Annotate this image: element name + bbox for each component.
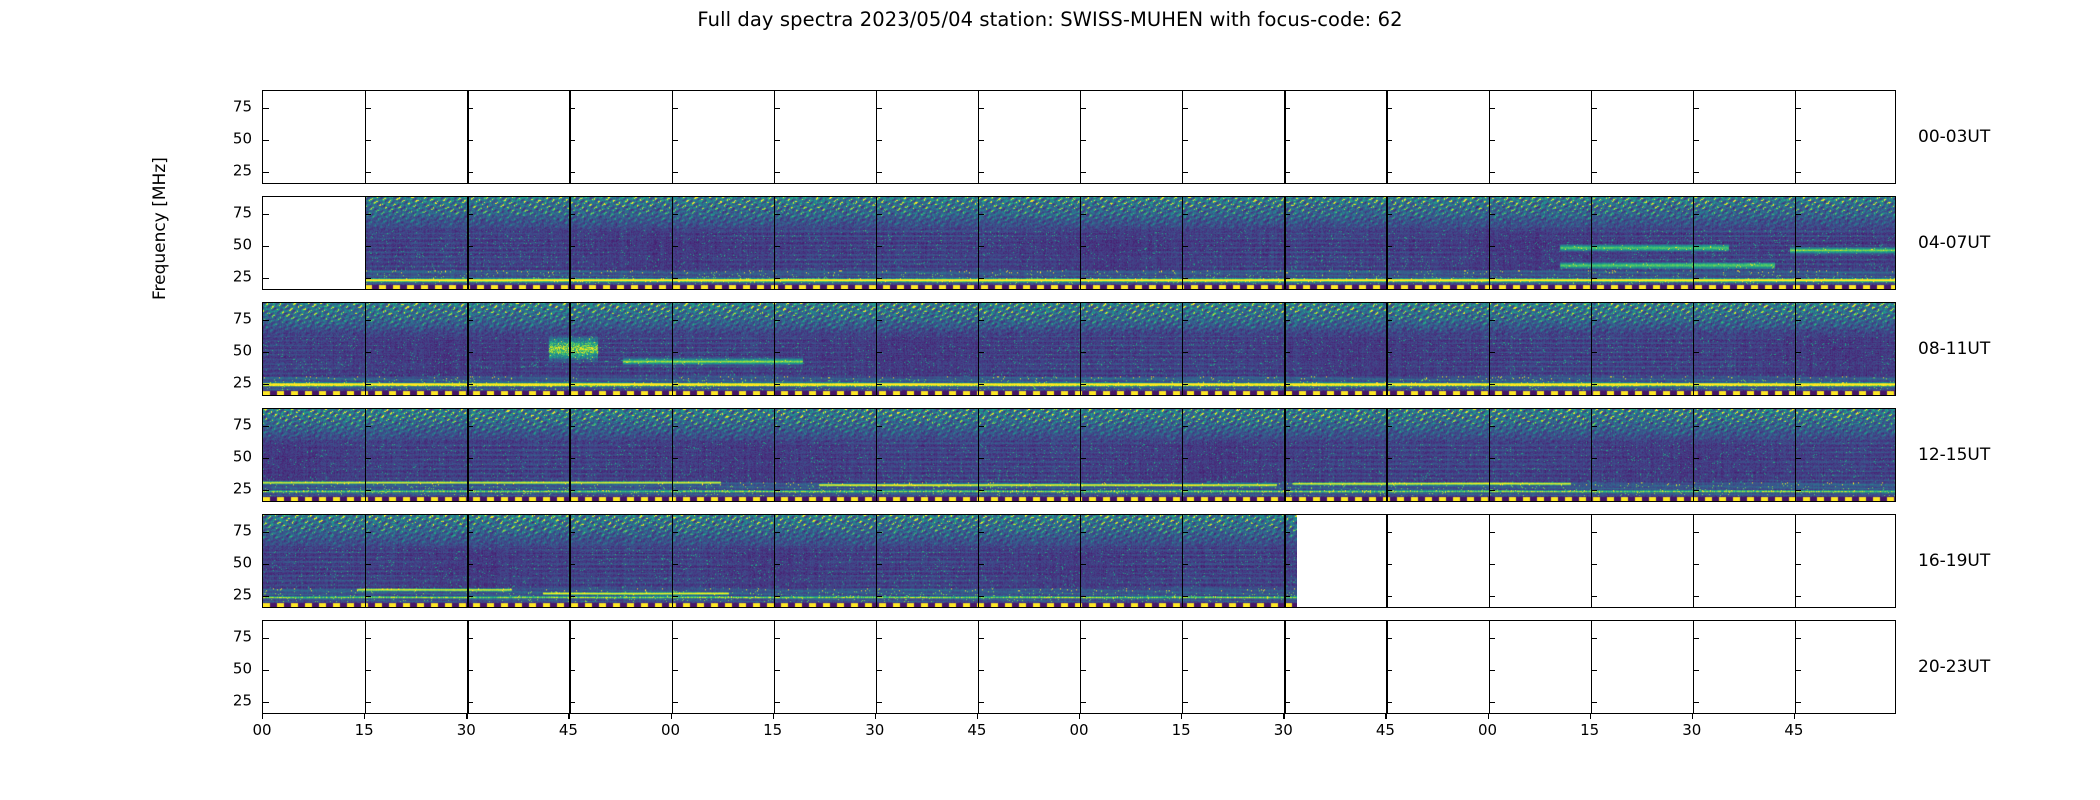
subpanel-separator xyxy=(1693,197,1694,289)
y-tick-mark xyxy=(569,638,575,639)
y-tick-mark xyxy=(1386,458,1392,459)
y-tick-mark xyxy=(1080,564,1086,565)
y-tick-mark xyxy=(672,352,678,353)
y-tick-mark xyxy=(774,320,780,321)
subpanel-separator xyxy=(978,91,979,183)
y-tick-mark xyxy=(569,172,575,173)
y-tick-mark xyxy=(1386,384,1392,385)
x-tick-label: 30 xyxy=(457,721,476,739)
y-tick-mark xyxy=(569,352,575,353)
subpanel-separator xyxy=(467,303,468,395)
y-tick-mark xyxy=(1489,670,1495,671)
y-tick-mark xyxy=(1795,214,1801,215)
y-tick-mark xyxy=(1591,384,1597,385)
y-tick-mark xyxy=(1182,278,1188,279)
y-tick-mark xyxy=(467,670,473,671)
y-tick-mark xyxy=(365,564,371,565)
y-tick-mark xyxy=(1693,596,1699,597)
y-tick-mark xyxy=(774,352,780,353)
y-tick-mark xyxy=(1795,246,1801,247)
subpanel-separator xyxy=(467,197,468,289)
subpanel-separator xyxy=(569,197,570,289)
y-tick-mark xyxy=(1080,638,1086,639)
y-tick-mark xyxy=(1693,490,1699,491)
y-tick-mark xyxy=(365,214,371,215)
y-tick-mark xyxy=(569,140,575,141)
subpanel-separator xyxy=(1795,621,1796,713)
y-tick-mark xyxy=(263,108,269,109)
subpanel-separator xyxy=(774,409,775,501)
x-tick-label: 00 xyxy=(252,721,271,739)
y-tick-mark xyxy=(569,214,575,215)
y-tick-mark xyxy=(263,702,269,703)
y-tick-mark xyxy=(263,458,269,459)
y-tick-mark xyxy=(1182,352,1188,353)
y-tick-mark xyxy=(1591,564,1597,565)
spectrogram-row-20-23ut xyxy=(262,620,1896,714)
y-tick-mark xyxy=(1693,108,1699,109)
y-tick-mark xyxy=(1489,278,1495,279)
y-tick-mark xyxy=(1795,172,1801,173)
y-tick-mark xyxy=(876,638,882,639)
y-tick-mark xyxy=(978,108,984,109)
y-tick-mark xyxy=(1284,596,1290,597)
x-tick-label: 00 xyxy=(1069,721,1088,739)
subpanel-separator xyxy=(365,91,366,183)
subpanel-separator xyxy=(774,303,775,395)
subpanel-separator xyxy=(569,515,570,607)
y-tick-mark xyxy=(1489,320,1495,321)
y-tick-mark xyxy=(569,532,575,533)
y-tick-mark xyxy=(1080,490,1086,491)
y-tick-mark xyxy=(1182,172,1188,173)
subpanel-separator xyxy=(1693,409,1694,501)
row-label-08-11ut: 08-11UT xyxy=(1918,339,1990,359)
y-tick-mark xyxy=(1386,670,1392,671)
y-tick-mark xyxy=(1795,490,1801,491)
y-tick-mark xyxy=(774,172,780,173)
y-tick-mark xyxy=(365,490,371,491)
x-tick-label: 30 xyxy=(865,721,884,739)
y-tick-mark xyxy=(569,426,575,427)
subpanel-separator xyxy=(1182,197,1183,289)
y-tick-label: 25 xyxy=(233,588,252,603)
subpanel-separator xyxy=(774,197,775,289)
y-tick-mark xyxy=(1080,278,1086,279)
y-tick-mark xyxy=(1182,670,1188,671)
y-tick-mark xyxy=(569,278,575,279)
y-tick-mark xyxy=(1795,670,1801,671)
subpanel-separator xyxy=(876,409,877,501)
y-tick-mark xyxy=(1591,278,1597,279)
y-tick-mark xyxy=(978,214,984,215)
y-tick-mark xyxy=(467,702,473,703)
y-tick-mark xyxy=(263,384,269,385)
y-tick-mark xyxy=(1591,352,1597,353)
y-tick-mark xyxy=(1489,490,1495,491)
y-tick-mark xyxy=(569,702,575,703)
y-tick-label: 50 xyxy=(233,343,252,358)
spectrogram-canvas xyxy=(263,515,1297,607)
x-tick-label: 30 xyxy=(1682,721,1701,739)
y-tick-mark xyxy=(1284,172,1290,173)
y-tick-mark xyxy=(774,638,780,639)
spectrogram-row-04-07ut xyxy=(262,196,1896,290)
y-tick-mark xyxy=(672,426,678,427)
x-tick-mark xyxy=(1385,714,1386,719)
y-tick-label: 75 xyxy=(233,99,252,114)
y-tick-mark xyxy=(263,564,269,565)
y-tick-mark xyxy=(1182,638,1188,639)
x-tick-label: 15 xyxy=(763,721,782,739)
y-tick-mark xyxy=(1693,278,1699,279)
y-tick-mark xyxy=(467,596,473,597)
y-tick-mark xyxy=(876,670,882,671)
y-tick-mark xyxy=(672,702,678,703)
subpanel-separator xyxy=(672,197,673,289)
y-tick-mark xyxy=(1080,532,1086,533)
y-tick-mark xyxy=(672,670,678,671)
subpanel-separator xyxy=(365,197,366,289)
y-tick-mark xyxy=(1080,108,1086,109)
y-tick-mark xyxy=(365,458,371,459)
y-tick-mark xyxy=(1591,214,1597,215)
row-label-column: 00-03UT04-07UT08-11UT12-15UT16-19UT20-23… xyxy=(1918,90,2088,714)
y-tick-label: 75 xyxy=(233,523,252,538)
y-tick-mark xyxy=(569,108,575,109)
subpanel-separator xyxy=(1284,621,1285,713)
y-tick-mark xyxy=(1489,596,1495,597)
y-tick-mark xyxy=(876,140,882,141)
y-tick-mark xyxy=(1080,384,1086,385)
y-tick-mark xyxy=(1693,320,1699,321)
y-tick-mark xyxy=(1182,214,1188,215)
y-tick-mark xyxy=(774,458,780,459)
x-tick-mark xyxy=(1794,714,1795,719)
y-tick-mark xyxy=(978,596,984,597)
y-tick-mark xyxy=(774,564,780,565)
x-tick-label: 15 xyxy=(355,721,374,739)
subpanel-separator xyxy=(978,197,979,289)
y-tick-mark xyxy=(978,140,984,141)
y-tick-mark xyxy=(774,596,780,597)
y-tick-mark xyxy=(1386,352,1392,353)
y-tick-mark xyxy=(1795,140,1801,141)
y-tick-mark xyxy=(1795,702,1801,703)
y-tick-mark xyxy=(672,596,678,597)
y-tick-mark xyxy=(1182,458,1188,459)
y-tick-mark xyxy=(1080,320,1086,321)
y-tick-mark xyxy=(774,490,780,491)
y-tick-mark xyxy=(1182,702,1188,703)
subpanel-separator xyxy=(1284,197,1285,289)
y-tick-mark xyxy=(569,246,575,247)
y-tick-mark xyxy=(1489,458,1495,459)
y-tick-mark xyxy=(672,564,678,565)
y-tick-mark xyxy=(1489,702,1495,703)
subpanel-separator xyxy=(467,91,468,183)
y-tick-mark xyxy=(365,702,371,703)
y-tick-label-column: 755025755025755025755025755025755025 xyxy=(196,90,252,714)
y-tick-mark xyxy=(467,638,473,639)
y-tick-mark xyxy=(1693,702,1699,703)
y-tick-mark xyxy=(1284,458,1290,459)
y-tick-mark xyxy=(263,490,269,491)
y-tick-mark xyxy=(467,320,473,321)
y-tick-mark xyxy=(1284,320,1290,321)
y-tick-mark xyxy=(263,214,269,215)
y-tick-mark xyxy=(1080,426,1086,427)
spectrogram-data-04-07ut xyxy=(365,197,1896,289)
y-tick-mark xyxy=(672,246,678,247)
subpanel-separator xyxy=(978,515,979,607)
subpanel-separator xyxy=(1795,91,1796,183)
y-tick-mark xyxy=(1591,246,1597,247)
subpanel-separator xyxy=(365,409,366,501)
subpanel-separator xyxy=(1284,91,1285,183)
subpanel-separator xyxy=(1386,303,1387,395)
y-tick-mark xyxy=(1591,108,1597,109)
y-tick-mark xyxy=(1080,246,1086,247)
y-tick-mark xyxy=(263,140,269,141)
y-tick-mark xyxy=(1795,638,1801,639)
y-tick-mark xyxy=(1489,532,1495,533)
y-tick-label: 50 xyxy=(233,661,252,676)
x-tick-label: 15 xyxy=(1580,721,1599,739)
y-tick-mark xyxy=(978,670,984,671)
y-tick-mark xyxy=(263,246,269,247)
y-tick-mark xyxy=(978,532,984,533)
y-tick-mark xyxy=(672,490,678,491)
y-tick-mark xyxy=(1795,564,1801,565)
y-tick-mark xyxy=(1386,490,1392,491)
y-tick-label: 75 xyxy=(233,311,252,326)
subpanel-separator xyxy=(1591,515,1592,607)
y-tick-mark xyxy=(569,458,575,459)
subpanel-separator xyxy=(1591,91,1592,183)
row-label-20-23ut: 20-23UT xyxy=(1918,657,1990,677)
y-tick-mark xyxy=(672,384,678,385)
y-tick-label: 50 xyxy=(233,555,252,570)
y-tick-mark xyxy=(1693,532,1699,533)
subpanel-separator xyxy=(1693,515,1694,607)
y-tick-mark xyxy=(1080,670,1086,671)
y-tick-mark xyxy=(1080,140,1086,141)
y-tick-mark xyxy=(1693,670,1699,671)
y-tick-mark xyxy=(1591,320,1597,321)
y-tick-mark xyxy=(467,246,473,247)
y-tick-mark xyxy=(672,458,678,459)
subpanel-separator xyxy=(1693,621,1694,713)
subpanel-separator xyxy=(1591,409,1592,501)
y-tick-mark xyxy=(1795,278,1801,279)
figure-title: Full day spectra 2023/05/04 station: SWI… xyxy=(0,8,2100,31)
y-tick-mark xyxy=(1182,596,1188,597)
y-tick-mark xyxy=(774,108,780,109)
y-tick-mark xyxy=(365,278,371,279)
y-tick-mark xyxy=(672,140,678,141)
y-tick-mark xyxy=(1795,108,1801,109)
y-tick-mark xyxy=(1795,426,1801,427)
subpanel-separator xyxy=(1489,515,1490,607)
y-tick-mark xyxy=(365,320,371,321)
y-tick-mark xyxy=(1591,702,1597,703)
y-tick-mark xyxy=(1386,702,1392,703)
y-tick-mark xyxy=(774,214,780,215)
subpanel-separator xyxy=(1693,303,1694,395)
y-tick-mark xyxy=(263,532,269,533)
subpanel-separator xyxy=(1386,91,1387,183)
subpanel-separator xyxy=(672,91,673,183)
y-tick-mark xyxy=(978,638,984,639)
row-label-00-03ut: 00-03UT xyxy=(1918,127,1990,147)
y-tick-label: 50 xyxy=(233,131,252,146)
y-tick-mark xyxy=(1386,140,1392,141)
y-tick-mark xyxy=(1591,458,1597,459)
y-tick-mark xyxy=(263,320,269,321)
y-tick-mark xyxy=(774,384,780,385)
y-tick-mark xyxy=(1284,670,1290,671)
subpanel-separator xyxy=(1795,303,1796,395)
spectrogram-row-00-03ut xyxy=(262,90,1896,184)
y-tick-mark xyxy=(1693,246,1699,247)
y-tick-mark xyxy=(467,426,473,427)
y-tick-mark xyxy=(1693,458,1699,459)
y-tick-mark xyxy=(365,352,371,353)
subpanel-separator xyxy=(1591,197,1592,289)
y-tick-mark xyxy=(1489,638,1495,639)
y-tick-mark xyxy=(1080,172,1086,173)
subpanel-separator xyxy=(1489,91,1490,183)
y-tick-mark xyxy=(1591,532,1597,533)
y-tick-mark xyxy=(672,172,678,173)
spectrogram-canvas xyxy=(365,197,1896,289)
y-tick-mark xyxy=(365,532,371,533)
subpanel-separator xyxy=(1080,409,1081,501)
y-tick-mark xyxy=(774,426,780,427)
y-tick-mark xyxy=(263,638,269,639)
y-tick-mark xyxy=(1284,352,1290,353)
y-tick-mark xyxy=(365,108,371,109)
y-tick-mark xyxy=(774,702,780,703)
y-tick-mark xyxy=(467,458,473,459)
y-tick-mark xyxy=(1489,214,1495,215)
y-tick-mark xyxy=(978,172,984,173)
y-tick-mark xyxy=(1182,532,1188,533)
y-tick-mark xyxy=(1386,214,1392,215)
y-tick-mark xyxy=(365,670,371,671)
y-tick-mark xyxy=(672,214,678,215)
y-tick-mark xyxy=(1386,172,1392,173)
subpanel-separator xyxy=(365,515,366,607)
spectrogram-row-12-15ut xyxy=(262,408,1896,502)
y-tick-mark xyxy=(774,246,780,247)
y-tick-mark xyxy=(1795,384,1801,385)
subpanel-separator xyxy=(672,621,673,713)
y-tick-mark xyxy=(467,108,473,109)
y-tick-mark xyxy=(876,596,882,597)
y-tick-mark xyxy=(876,214,882,215)
x-tick-mark xyxy=(977,714,978,719)
y-tick-mark xyxy=(774,278,780,279)
x-tick-mark xyxy=(773,714,774,719)
y-tick-mark xyxy=(672,108,678,109)
x-tick-mark xyxy=(466,714,467,719)
subpanel-separator xyxy=(672,515,673,607)
y-tick-mark xyxy=(1386,532,1392,533)
x-tick-mark xyxy=(1488,714,1489,719)
y-tick-mark xyxy=(365,140,371,141)
y-tick-mark xyxy=(1591,426,1597,427)
y-tick-label: 75 xyxy=(233,629,252,644)
y-tick-mark xyxy=(1284,246,1290,247)
x-tick-mark xyxy=(364,714,365,719)
subpanel-separator xyxy=(774,515,775,607)
y-tick-mark xyxy=(1591,638,1597,639)
y-tick-label: 75 xyxy=(233,417,252,432)
y-tick-mark xyxy=(1489,352,1495,353)
y-tick-mark xyxy=(467,564,473,565)
y-tick-mark xyxy=(1591,670,1597,671)
y-tick-mark xyxy=(1489,426,1495,427)
y-tick-mark xyxy=(876,490,882,491)
spectrogram-grid xyxy=(262,90,1896,714)
subpanel-separator xyxy=(978,303,979,395)
y-tick-mark xyxy=(1591,490,1597,491)
y-tick-mark xyxy=(467,172,473,173)
y-tick-mark xyxy=(1182,320,1188,321)
subpanel-separator xyxy=(365,621,366,713)
subpanel-separator xyxy=(1795,197,1796,289)
x-tick-mark xyxy=(1079,714,1080,719)
subpanel-separator xyxy=(1795,409,1796,501)
subpanel-separator xyxy=(1591,621,1592,713)
y-tick-mark xyxy=(1693,140,1699,141)
y-tick-mark xyxy=(569,596,575,597)
y-tick-mark xyxy=(978,320,984,321)
x-tick-mark xyxy=(568,714,569,719)
subpanel-separator xyxy=(1182,91,1183,183)
subpanel-separator xyxy=(1182,409,1183,501)
x-tick-label: 45 xyxy=(967,721,986,739)
y-tick-mark xyxy=(1080,214,1086,215)
y-tick-mark xyxy=(774,140,780,141)
subpanel-separator xyxy=(1182,621,1183,713)
y-tick-mark xyxy=(978,426,984,427)
x-tick-label: 45 xyxy=(1376,721,1395,739)
y-tick-mark xyxy=(1080,596,1086,597)
y-tick-mark xyxy=(978,490,984,491)
y-tick-mark xyxy=(365,246,371,247)
subpanel-separator xyxy=(467,621,468,713)
y-tick-mark xyxy=(1591,172,1597,173)
spectrogram-row-08-11ut xyxy=(262,302,1896,396)
y-tick-mark xyxy=(1080,702,1086,703)
subpanel-separator xyxy=(1284,409,1285,501)
y-tick-mark xyxy=(467,532,473,533)
y-tick-mark xyxy=(1284,426,1290,427)
x-tick-label: 00 xyxy=(1478,721,1497,739)
y-tick-mark xyxy=(1489,140,1495,141)
subpanel-separator xyxy=(876,197,877,289)
y-tick-mark xyxy=(978,458,984,459)
subpanel-separator xyxy=(978,621,979,713)
y-tick-mark xyxy=(1182,490,1188,491)
y-tick-mark xyxy=(672,532,678,533)
y-tick-mark xyxy=(1182,426,1188,427)
subpanel-separator xyxy=(1489,197,1490,289)
y-tick-mark xyxy=(876,458,882,459)
